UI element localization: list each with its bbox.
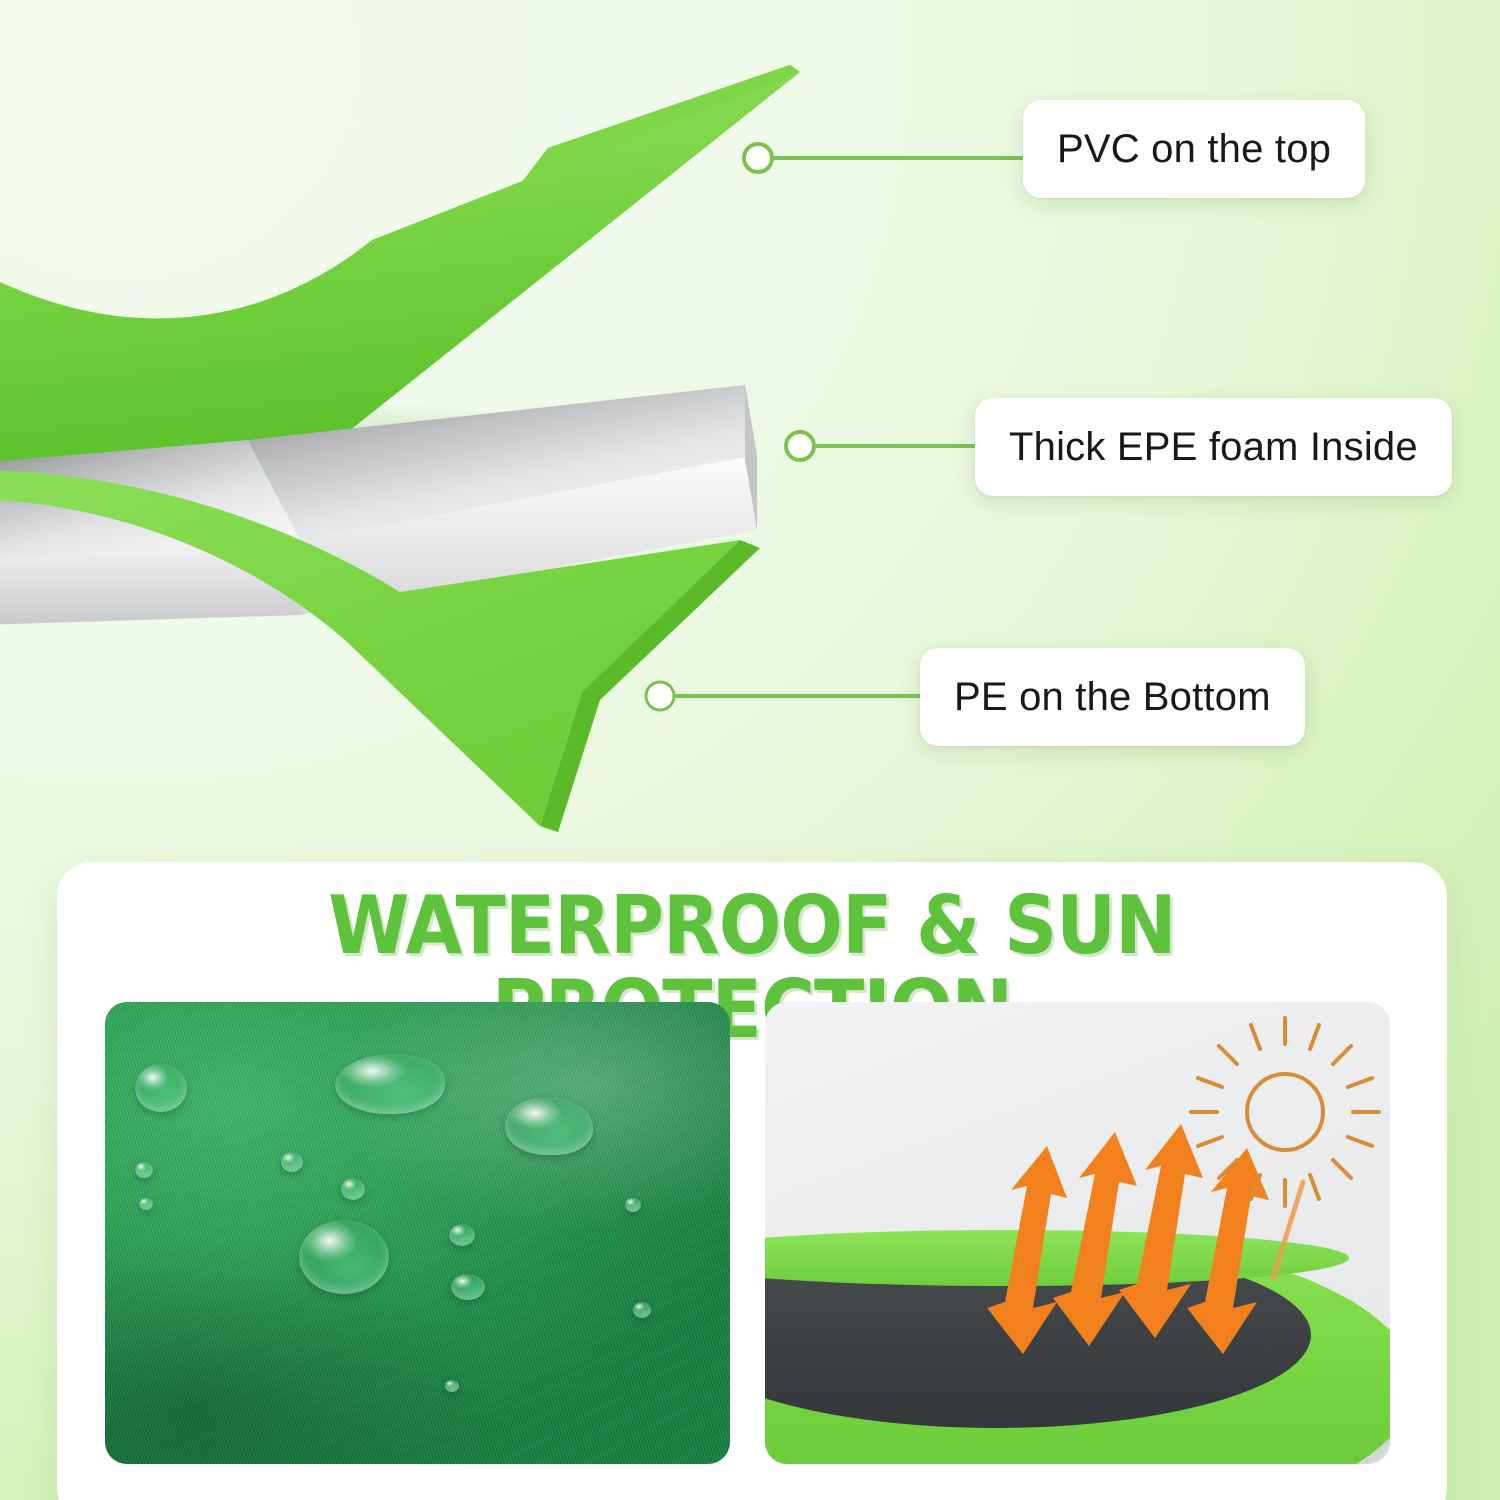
water-droplet — [451, 1274, 485, 1300]
callout-label: Thick EPE foam Inside — [1009, 425, 1418, 470]
reflect-arrow-group — [987, 1124, 1269, 1354]
water-droplet — [135, 1064, 187, 1112]
photo-sun — [765, 1002, 1390, 1464]
connector-marker-foam — [786, 432, 814, 460]
exploded-layer-diagram: PVC on the top Thick EPE foam Inside PE … — [0, 0, 1500, 860]
connector-marker-pvc — [744, 144, 772, 172]
water-droplet — [505, 1097, 593, 1155]
water-droplet — [299, 1220, 389, 1294]
callout-pvc-on-the-top: PVC on the top — [1023, 100, 1365, 198]
page-root: PVC on the top Thick EPE foam Inside PE … — [0, 0, 1500, 1500]
reflect-arrow — [1053, 1132, 1137, 1346]
reflect-arrow — [1119, 1124, 1203, 1338]
connector-marker-pe — [646, 682, 674, 710]
water-droplet — [281, 1152, 303, 1172]
water-droplet — [335, 1054, 445, 1114]
callout-pe-on-the-bottom: PE on the Bottom — [920, 648, 1305, 746]
water-droplet — [625, 1198, 641, 1212]
callout-thick-epe-foam-inside: Thick EPE foam Inside — [975, 398, 1452, 496]
water-droplet — [135, 1162, 153, 1178]
sun-icon — [1191, 1018, 1379, 1206]
callout-label: PE on the Bottom — [954, 675, 1271, 720]
water-droplet — [139, 1198, 153, 1210]
water-droplet — [633, 1302, 651, 1318]
sun-reflection-overlay — [765, 1002, 1390, 1464]
water-droplet — [449, 1224, 475, 1246]
reflect-arrow — [987, 1146, 1067, 1354]
water-droplet — [341, 1178, 365, 1200]
feature-card: WATERPROOF & SUN PROTECTION — [57, 862, 1447, 1500]
callout-label: PVC on the top — [1057, 127, 1331, 172]
photo-waterproof — [105, 1002, 730, 1464]
water-droplet — [445, 1380, 459, 1392]
